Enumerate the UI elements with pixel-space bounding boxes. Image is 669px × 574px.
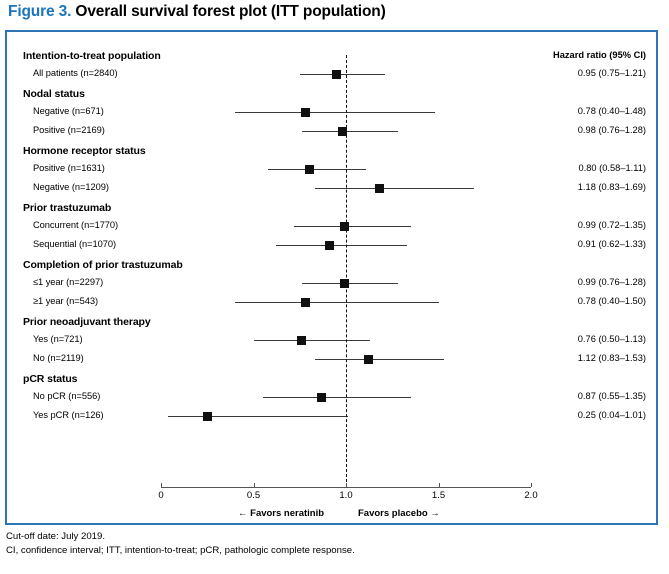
figure-title-text: Overall survival forest plot (ITT popula… xyxy=(75,3,385,20)
figure-panel xyxy=(5,30,658,525)
figure-root: Figure 3. Overall survival forest plot (… xyxy=(0,0,669,574)
figure-number: Figure 3. xyxy=(8,3,71,20)
footnote-cutoff-date: Cut-off date: July 2019. xyxy=(6,531,105,542)
page-title: Figure 3. Overall survival forest plot (… xyxy=(8,3,386,21)
footnote-abbreviations: CI, confidence interval; ITT, intention-… xyxy=(6,545,355,556)
